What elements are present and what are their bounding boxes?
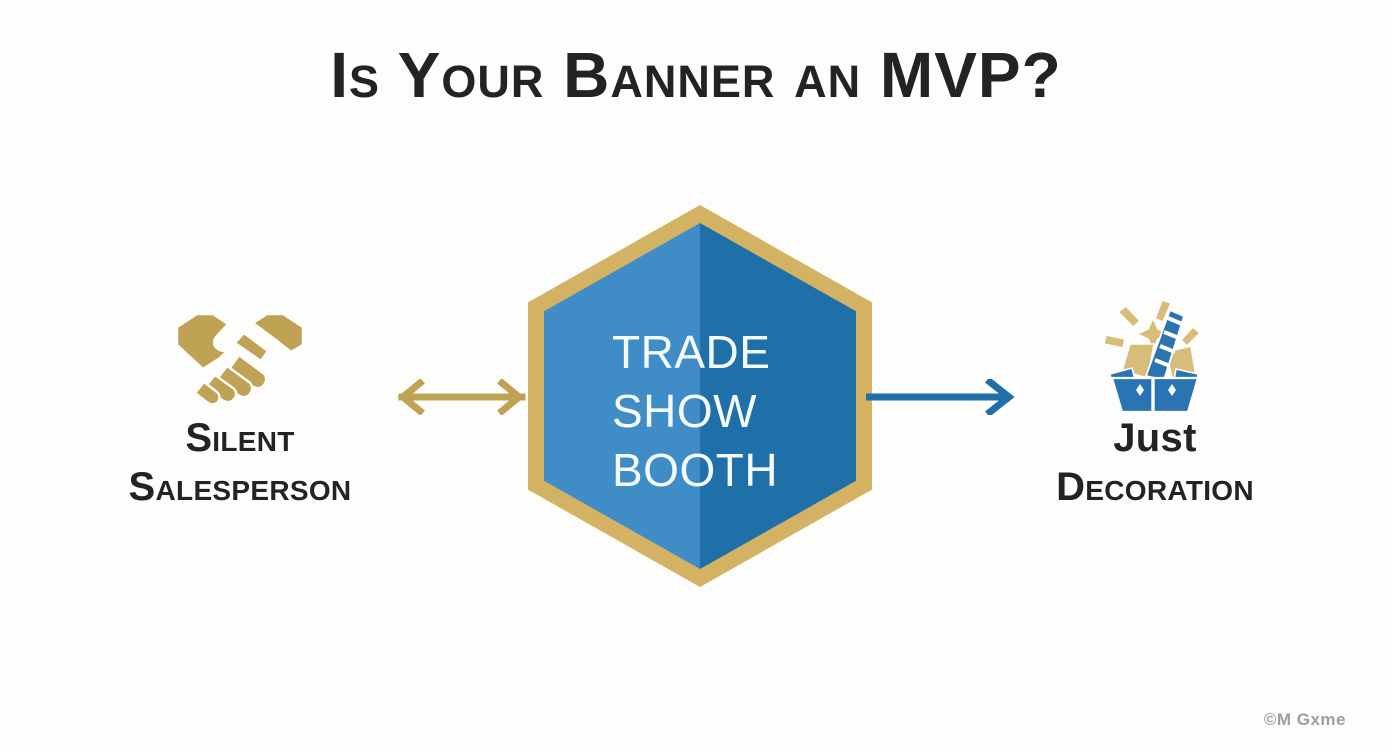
trade-show-booth-hexagon: TRADE SHOW BOOTH: [528, 205, 872, 587]
right-concept-group: Just Decoration: [975, 296, 1335, 512]
left-label-line-1: Silent: [60, 414, 420, 463]
left-concept-label: Silent Salesperson: [60, 414, 420, 512]
left-concept-group: Silent Salesperson: [60, 296, 420, 512]
infographic-canvas: Is Your Banner an MVP? Silent Salesperso…: [0, 0, 1392, 752]
hexagon-label-line-1: TRADE: [612, 323, 842, 382]
hexagon-label: TRADE SHOW BOOTH: [612, 323, 842, 500]
right-label-line-2: Decoration: [975, 463, 1335, 512]
arrow-right: [866, 379, 1016, 420]
double-headed-arrow-left: [396, 379, 526, 420]
handshake-icon: [60, 296, 420, 414]
right-label-line-1: Just: [975, 414, 1335, 463]
watermark: ©M Gxme: [1264, 710, 1346, 730]
hexagon-label-line-3: BOOTH: [612, 441, 842, 500]
gift-box-confetti-icon: [975, 296, 1335, 414]
page-title: Is Your Banner an MVP?: [0, 42, 1392, 109]
left-label-line-2: Salesperson: [60, 463, 420, 512]
hexagon-label-line-2: SHOW: [612, 382, 842, 441]
right-concept-label: Just Decoration: [975, 414, 1335, 512]
